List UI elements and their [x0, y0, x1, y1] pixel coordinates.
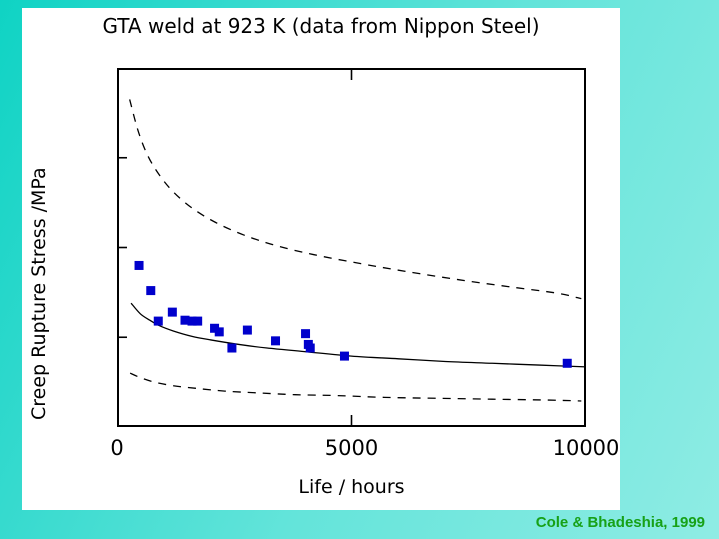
- x-axis-label: Life / hours: [117, 476, 586, 498]
- chart-title: GTA weld at 923 K (data from Nippon Stee…: [22, 14, 620, 38]
- x-tick-label: 5000: [292, 436, 412, 460]
- x-tick-label: 10000: [526, 436, 646, 460]
- slide-canvas: GTA weld at 923 K (data from Nippon Stee…: [0, 0, 719, 539]
- plot-frame: [117, 68, 586, 427]
- y-axis-label: Creep Rupture Stress /MPa: [28, 167, 50, 420]
- credit-text: Cole & Bhadeshia, 1999: [536, 514, 705, 531]
- x-tick-label: 0: [57, 436, 177, 460]
- y-axis-label-wrapper: Creep Rupture Stress /MPa: [28, 420, 48, 440]
